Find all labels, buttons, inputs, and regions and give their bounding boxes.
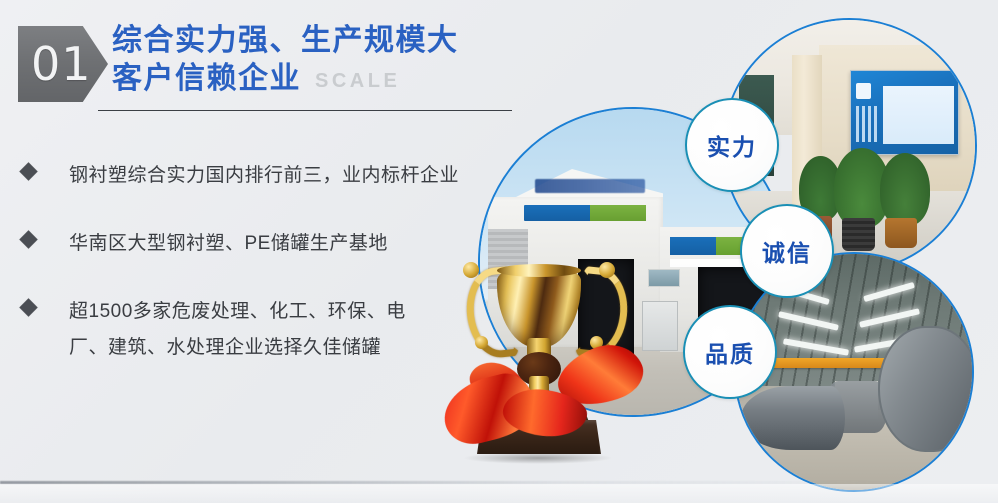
list-item: 华南区大型钢衬塑、PE储罐生产基地 [22,226,388,262]
factory-banner-green [590,205,646,221]
board-logo [856,83,871,100]
list-item-line: 超1500多家危废处理、化工、环保、电 [69,294,406,330]
factory-window [648,269,680,287]
title-english-subtitle: SCALE [315,62,400,100]
trophy-ornament [463,262,479,278]
list-item-line: 厂、建筑、水处理企业选择久佳储罐 [69,330,406,366]
bottom-fade [0,484,998,503]
keyword-badge-label: 品质 [705,335,755,369]
list-item-text: 华南区大型钢衬塑、PE储罐生产基地 [69,226,388,262]
factory-side-cabin [642,301,678,351]
list-item: 钢衬塑综合实力国内排行前三，业内标杆企业 [22,158,459,194]
keyword-badge-strength: 实力 [685,98,779,192]
list-item-text: 超1500多家危废处理、化工、环保、电 厂、建筑、水处理企业选择久佳储罐 [69,294,406,366]
factory-company-sign [535,179,645,193]
list-item-text: 钢衬塑综合实力国内排行前三，业内标杆企业 [69,158,459,194]
office-bulletin-board [850,70,960,155]
title-line-2: 客户信赖企业 [112,60,301,98]
diamond-bullet-icon [19,230,37,248]
trophy-ornament [599,262,615,278]
office-plant-pot [885,218,918,248]
keyword-badge-quality: 品质 [683,305,777,399]
trophy-ornament [475,336,488,349]
storage-tank [878,326,974,453]
section-index-number: 01 [18,41,92,87]
keyword-badge-integrity: 诚信 [740,204,834,298]
banner-root: 01 综合实力强、生产规模大 客户信赖企业 SCALE 钢衬塑综合实力国内排行前… [0,0,998,503]
section-index-badge: 01 [18,26,108,102]
list-item-line: 钢衬塑综合实力国内排行前三，业内标杆企业 [69,158,459,194]
keyword-badge-label: 实力 [707,128,757,162]
photo-collage: 实力 诚信 品质 [440,0,998,503]
trophy-illustration [445,238,635,468]
diamond-bullet-icon [19,298,37,316]
office-plant-pot [842,218,875,251]
storage-tank [741,386,845,450]
list-item: 超1500多家危废处理、化工、环保、电 厂、建筑、水处理企业选择久佳储罐 [22,294,406,366]
trophy-rim [497,264,581,277]
diamond-bullet-icon [19,162,37,180]
keyword-badge-label: 诚信 [762,234,812,268]
board-paper [883,86,954,144]
list-item-line: 华南区大型钢衬塑、PE储罐生产基地 [69,226,388,262]
factory-logo-plate [670,237,718,255]
office-plant [880,153,930,226]
board-bar-chart [856,106,880,142]
